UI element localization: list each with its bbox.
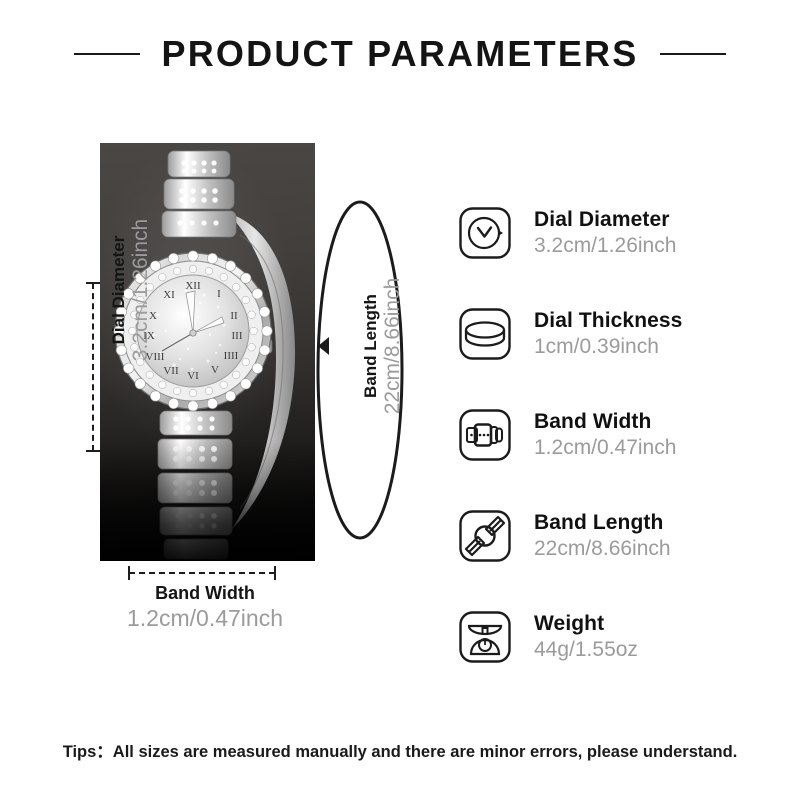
band-width-caliper	[128, 566, 276, 580]
spec-value: 3.2cm/1.26inch	[534, 232, 676, 259]
spec-label: Weight	[534, 611, 638, 637]
strap-buckle-icon	[458, 408, 512, 462]
spec-label: Band Length	[534, 510, 671, 536]
dial-diameter-annotation: Dial Diameter 3.2cm/1.26inch	[103, 185, 159, 395]
svg-text:V: V	[211, 364, 219, 376]
dial-diameter-annotation-value: 3.2cm/1.26inch	[129, 219, 153, 361]
watch-dial-icon	[458, 206, 512, 260]
spec-value: 22cm/8.66inch	[534, 535, 671, 562]
svg-text:II: II	[230, 310, 238, 322]
spec-text: Band Width 1.2cm/0.47inch	[534, 409, 676, 462]
dial-diameter-annotation-label: Dial Diameter	[109, 236, 128, 345]
band-width-annotation-label: Band Width	[60, 583, 350, 605]
band-length-annotation-value: 22cm/8.66inch	[381, 278, 405, 415]
dial-diameter-caliper	[86, 282, 100, 452]
svg-text:VII: VII	[163, 365, 179, 377]
spec-text: Band Length 22cm/8.66inch	[534, 510, 671, 563]
page-title: PRODUCT PARAMETERS	[162, 33, 639, 75]
tips-footer: Tips：All sizes are measured manually and…	[0, 738, 800, 762]
band-length-annotation: Band Length 22cm/8.66inch	[355, 221, 411, 471]
spec-row-weight: Weight 44g/1.55oz	[458, 600, 788, 674]
caliper-stem	[92, 283, 94, 451]
spec-value: 44g/1.55oz	[534, 636, 638, 663]
watch-band-icon	[458, 509, 512, 563]
spec-row-band-width: Band Width 1.2cm/0.47inch	[458, 398, 788, 472]
band-length-annotation-label: Band Length	[361, 294, 380, 398]
spec-list: Dial Diameter 3.2cm/1.26inch Dial Thickn…	[458, 196, 788, 674]
caliper-cap-bottom	[86, 450, 100, 452]
spec-text: Weight 44g/1.55oz	[534, 611, 638, 664]
spec-label: Dial Diameter	[534, 207, 676, 233]
band-width-annotation: Band Width 1.2cm/0.47inch	[60, 583, 350, 632]
spec-value: 1cm/0.39inch	[534, 333, 682, 360]
disc-thickness-icon	[458, 307, 512, 361]
spec-value: 1.2cm/0.47inch	[534, 434, 676, 461]
spec-text: Dial Thickness 1cm/0.39inch	[534, 308, 682, 361]
caliper-stem	[129, 572, 275, 574]
spec-row-dial-diameter: Dial Diameter 3.2cm/1.26inch	[458, 196, 788, 270]
spec-text: Dial Diameter 3.2cm/1.26inch	[534, 207, 676, 260]
spec-label: Band Width	[534, 409, 676, 435]
caliper-cap-right	[274, 566, 276, 580]
svg-text:XII: XII	[185, 280, 201, 292]
svg-text:VI: VI	[187, 370, 199, 382]
svg-text:XI: XI	[163, 289, 175, 301]
photo-floor-shadow	[100, 441, 315, 561]
title-rule-left	[74, 53, 140, 55]
product-parameters-page: PRODUCT PARAMETERS	[0, 0, 800, 800]
band-width-annotation-value: 1.2cm/0.47inch	[60, 605, 350, 633]
page-title-bar: PRODUCT PARAMETERS	[0, 30, 800, 78]
svg-text:III: III	[232, 330, 243, 342]
svg-text:I: I	[217, 288, 221, 300]
spec-row-band-length: Band Length 22cm/8.66inch	[458, 499, 788, 573]
spec-label: Dial Thickness	[534, 308, 682, 334]
kitchen-scale-icon	[458, 610, 512, 664]
spec-row-dial-thickness: Dial Thickness 1cm/0.39inch	[458, 297, 788, 371]
title-rule-right	[660, 53, 726, 55]
svg-text:IIII: IIII	[224, 350, 239, 362]
